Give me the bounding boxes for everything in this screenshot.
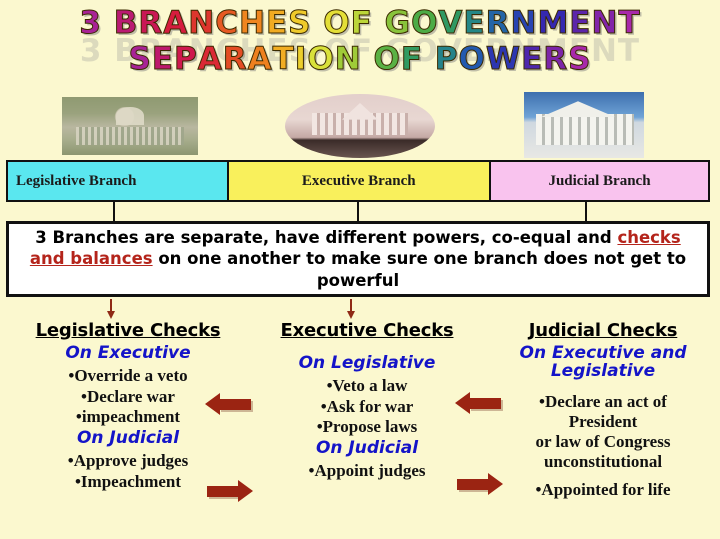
list-item: •Override a veto xyxy=(4,366,252,386)
list-item: •Propose laws xyxy=(252,417,482,437)
subheading-legislative-on-executive: On Executive xyxy=(4,345,252,363)
arrow-body xyxy=(207,486,239,497)
list-item-continuation: unconstitutional xyxy=(490,452,716,472)
statement-part-1: 3 Branches are separate, have different … xyxy=(35,228,617,247)
page-title-line-2: SEPARATION OF POWERS xyxy=(0,41,720,77)
subheading-legislative-on-judicial: On Judicial xyxy=(4,430,252,448)
spacer xyxy=(252,345,482,352)
arrow-body xyxy=(219,399,251,410)
connector-line-judicial xyxy=(585,202,587,222)
list-item-continuation: President xyxy=(490,412,716,432)
supreme-court-photo xyxy=(524,92,644,158)
arrow-tip xyxy=(488,473,503,495)
statement-text: 3 Branches are separate, have different … xyxy=(17,227,699,291)
branch-label-executive: Executive Branch xyxy=(302,173,416,190)
us-capitol-photo xyxy=(62,97,198,155)
list-item: •Veto a law xyxy=(252,376,482,396)
list-item-continuation: or law of Congress xyxy=(490,432,716,452)
arrow-right-executive-judicial xyxy=(457,473,503,495)
spacer xyxy=(490,472,716,479)
down-arrow-left xyxy=(107,299,116,321)
arrow-right-legislative-executive xyxy=(207,480,253,502)
arrow-tip xyxy=(455,392,470,414)
down-arrow-middle-head xyxy=(347,311,355,319)
branch-label-judicial: Judicial Branch xyxy=(548,173,650,190)
branch-cell-executive[interactable]: Executive Branch xyxy=(229,162,492,200)
list-item: •Appoint judges xyxy=(252,461,482,481)
column-heading-executive: Executive Checks xyxy=(252,320,482,341)
white-house-photo xyxy=(285,94,435,158)
column-executive-checks: Executive Checks On Legislative •Veto a … xyxy=(252,320,482,482)
column-judicial-checks: Judicial Checks On Executive and Legisla… xyxy=(490,320,716,500)
arrow-body xyxy=(469,398,501,409)
column-heading-judicial: Judicial Checks xyxy=(490,320,716,341)
checks-columns: Legislative Checks On Executive •Overrid… xyxy=(0,320,720,539)
statement-part-2: on one another to make sure one branch d… xyxy=(153,249,687,289)
spacer xyxy=(490,384,716,391)
statement-box: 3 Branches are separate, have different … xyxy=(6,221,710,297)
branch-bar: Legislative Branch Executive Branch Judi… xyxy=(6,160,710,202)
list-item: •Declare an act of xyxy=(490,392,716,412)
branch-label-legislative: Legislative Branch xyxy=(16,173,136,190)
branch-cell-judicial[interactable]: Judicial Branch xyxy=(491,162,708,200)
list-item: •Appointed for life xyxy=(490,480,716,500)
connector-line-executive xyxy=(357,202,359,222)
arrow-left-executive-judicial xyxy=(455,392,501,414)
column-heading-legislative: Legislative Checks xyxy=(4,320,252,341)
subheading-judicial-on-exec-and-leg: On Executive and Legislative xyxy=(490,345,716,381)
connector-line-legislative xyxy=(113,202,115,222)
down-arrow-left-head xyxy=(107,311,115,319)
arrow-tip xyxy=(205,393,220,415)
list-item: •Approve judges xyxy=(4,451,252,471)
poster-canvas: 3 BRANCHES OF GOVERNMENT 3 BRANCHES OF G… xyxy=(0,0,720,539)
down-arrow-middle xyxy=(347,299,356,321)
subheading-executive-on-judicial: On Judicial xyxy=(252,440,482,458)
arrow-body xyxy=(457,479,489,490)
title-block: 3 BRANCHES OF GOVERNMENT 3 BRANCHES OF G… xyxy=(0,0,720,86)
page-title-line-1: 3 BRANCHES OF GOVERNMENT xyxy=(0,5,720,41)
subheading-executive-on-legislative: On Legislative xyxy=(252,355,482,373)
branch-cell-legislative[interactable]: Legislative Branch xyxy=(8,162,229,200)
list-item: •Ask for war xyxy=(252,397,482,417)
arrow-left-legislative-executive xyxy=(205,393,251,415)
arrow-tip xyxy=(238,480,253,502)
